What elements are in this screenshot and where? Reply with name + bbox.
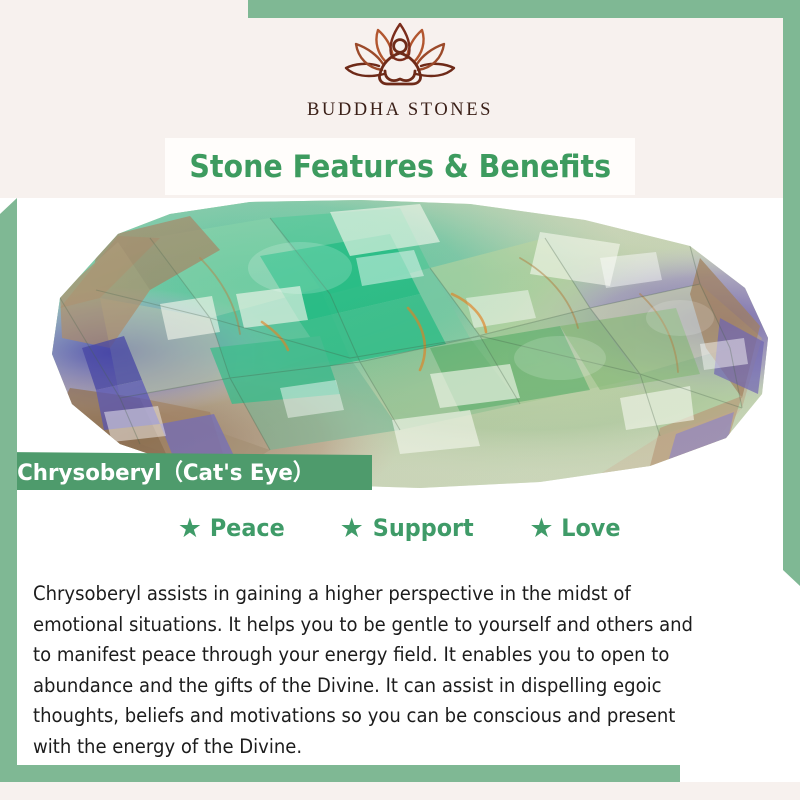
lotus-meditation-figure-icon <box>338 18 462 96</box>
title-banner: Stone Features & Benefits <box>165 138 635 195</box>
star-icon: ★ <box>178 515 202 542</box>
frame-accent-right <box>783 0 800 586</box>
brand-logo-block: BUDDHA STONES <box>0 18 800 138</box>
benefit-label: Love <box>561 514 620 542</box>
frame-accent-top <box>248 0 800 18</box>
stone-name-text: Chrysoberyl（Cat's Eye） <box>0 455 314 487</box>
star-icon: ★ <box>340 515 364 542</box>
benefit-item-love: ★ Love <box>529 514 622 542</box>
footer-band <box>0 782 800 800</box>
stone-name-label: Chrysoberyl（Cat's Eye） <box>0 452 372 490</box>
benefit-label: Support <box>373 514 474 542</box>
stone-photo <box>0 198 800 494</box>
brand-wordmark: BUDDHA STONES <box>307 100 493 121</box>
page-title: Stone Features & Benefits <box>189 149 611 185</box>
star-icon: ★ <box>529 515 553 542</box>
frame-accent-bottom <box>0 765 680 782</box>
benefit-item-peace: ★ Peace <box>178 514 288 542</box>
stone-benefits-poster: BUDDHA STONES Stone Features & Benefits <box>0 0 800 800</box>
benefits-row: ★ Peace ★ Support ★ Love <box>0 514 800 542</box>
frame-accent-left <box>0 198 17 782</box>
stone-description: Chrysoberyl assists in gaining a higher … <box>33 579 712 762</box>
benefit-label: Peace <box>210 514 285 542</box>
benefit-item-support: ★ Support <box>340 514 478 542</box>
